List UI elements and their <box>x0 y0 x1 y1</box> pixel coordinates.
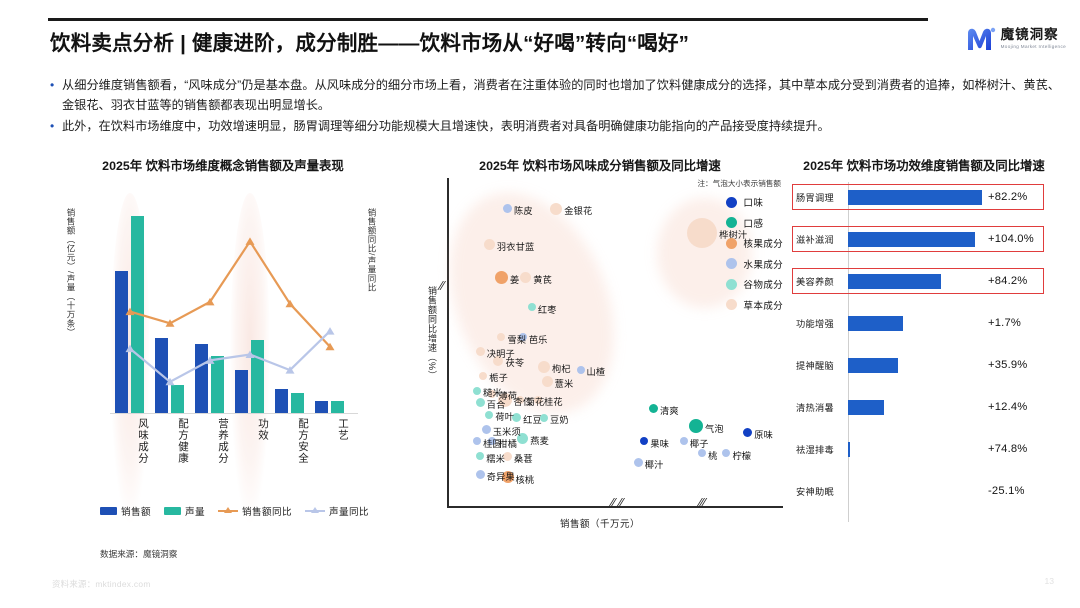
chart2-bubble[interactable] <box>634 458 643 467</box>
chart1-category-label: 功效 <box>230 418 270 441</box>
chart3-bar[interactable] <box>848 190 982 205</box>
chart3-row[interactable]: 功能增强+1.7% <box>790 310 1058 336</box>
chart2-legend-label: 核果成分 <box>743 236 783 250</box>
chart2-bubble-label: 椰汁 <box>645 457 664 471</box>
legend-line-marker-icon <box>218 506 238 516</box>
chart2-bubble[interactable] <box>538 361 550 373</box>
chart2-legend-item[interactable]: 核果成分 <box>726 233 783 254</box>
chart3-value-label: +35.9% <box>988 359 1027 371</box>
chart3-category-label: 安神助眠 <box>796 484 848 498</box>
chart2-bubble[interactable] <box>698 449 706 457</box>
chart3-value-label: -25.1% <box>988 485 1025 497</box>
bullet-item: • 从细分维度销售额看，“风味成分”仍是基本盘。从风味成分的细分市场上看，消费者… <box>48 76 1060 115</box>
chart2-bubble-label: 栀子 <box>489 370 508 384</box>
chart1-category-label: 工艺 <box>310 418 350 441</box>
chart2-legend-label: 水果成分 <box>743 257 783 271</box>
chart-dimension-concept: 2025年 饮料市场维度概念销售额及声量表现 销售额（亿元）/声量（十万条） 销… <box>48 156 398 556</box>
chart1-line-marker <box>326 327 335 335</box>
chart1-legend-label: 声量同比 <box>329 504 369 518</box>
title-underline <box>48 18 928 21</box>
chart2-bubble-label: 桑葚 <box>514 451 533 465</box>
chart1-category-label: 营养成分 <box>190 418 230 464</box>
chart2-bubble-label: 原味 <box>754 427 773 441</box>
chart2-bubble[interactable] <box>550 203 562 215</box>
chart2-bubble-label: 红豆 <box>523 412 542 426</box>
chart1-legend-label: 销售额同比 <box>242 504 292 518</box>
chart2-bubble[interactable] <box>482 425 491 434</box>
chart2-legend-item[interactable]: 口味 <box>726 192 783 213</box>
chart1-y-axis-label: 销售额（亿元）/声量（十万条） <box>54 208 76 438</box>
chart2-bubble-label: 豆奶 <box>550 412 569 426</box>
chart2-bubble-label: 核桃 <box>516 472 535 486</box>
chart2-legend-label: 口味 <box>743 195 763 209</box>
chart2-bubble-label: 菊花 <box>526 394 545 408</box>
bullet-item: • 此外，在饮料市场维度中，功效增速明显，肠胃调理等细分功能规模大且增速快，表明… <box>48 117 1060 137</box>
chart2-bubble-label: 果味 <box>650 436 669 450</box>
chart3-value-label: +12.4% <box>988 401 1027 413</box>
chart2-bubble[interactable] <box>485 411 493 419</box>
chart3-title: 2025年 饮料市场功效维度销售额及同比增速 <box>790 156 1058 174</box>
chart2-bubble-label: 柑橘 <box>498 436 517 450</box>
chart2-bubble-label: 芭乐 <box>529 332 548 346</box>
chart2-legend-label: 草本成分 <box>743 298 783 312</box>
chart2-legend-item[interactable]: 口感 <box>726 213 783 234</box>
chart1-legend-item[interactable]: 销售额同比 <box>218 504 292 518</box>
legend-line-marker-icon <box>305 506 325 516</box>
chart2-bubble-label: 气泡 <box>705 421 724 435</box>
chart1-line-销售额同比 <box>130 241 330 346</box>
legend-dot-icon <box>726 258 737 269</box>
chart2-bubble-label: 椰子 <box>690 436 709 450</box>
chart3-row[interactable]: 提神醒脑+35.9% <box>790 352 1058 378</box>
chart3-bar[interactable] <box>848 316 903 331</box>
chart2-bubble[interactable] <box>689 419 703 433</box>
chart1-title: 2025年 饮料市场维度概念销售额及声量表现 <box>48 156 398 174</box>
chart2-legend: 口味口感核果成分水果成分谷物成分草本成分 <box>726 192 783 315</box>
chart3-bar[interactable] <box>848 232 975 247</box>
chart1-source-note: 数据来源：魔镜洞察 <box>100 548 177 560</box>
chart2-bubble-label: 桃 <box>708 448 717 462</box>
chart3-row[interactable]: 安神助眠-25.1% <box>790 478 1058 504</box>
chart3-category-label: 提神醒脑 <box>796 358 848 372</box>
chart3-bar[interactable] <box>848 442 850 457</box>
chart3-row[interactable]: 滋补滋润+104.0% <box>790 226 1058 252</box>
chart2-bubble[interactable] <box>476 398 485 407</box>
chart2-bubble-label: 荷叶 <box>495 409 514 423</box>
moojing-m-icon <box>966 26 996 52</box>
bullet-marker-icon: • <box>48 76 62 95</box>
chart2-x-axis-label: 销售额（千万元） <box>415 516 785 530</box>
chart3-category-label: 祛湿排毒 <box>796 442 848 456</box>
chart2-bubble-label: 奇异果 <box>487 469 515 483</box>
chart1-line-marker <box>246 237 255 245</box>
chart3-category-label: 功能增强 <box>796 316 848 330</box>
bullet-text: 此外，在饮料市场维度中，功效增速明显，肠胃调理等细分功能规模大且增速快，表明消费… <box>62 117 830 137</box>
chart1-legend-label: 声量 <box>185 504 205 518</box>
chart3-row[interactable]: 美容养颜+84.2% <box>790 268 1058 294</box>
chart1-line-marker <box>126 308 135 316</box>
legend-swatch-icon <box>100 507 117 515</box>
chart1-legend-label: 销售额 <box>121 504 151 518</box>
chart3-value-label: +84.2% <box>988 275 1027 287</box>
chart2-bubble[interactable] <box>687 218 717 248</box>
y-axis-break-icon: ⁄⁄ <box>440 278 444 293</box>
page-title: 饮料卖点分析 | 健康进阶，成分制胜——饮料市场从“好喝”转向“喝好” <box>50 26 689 56</box>
chart2-bubble-label: 陈皮 <box>514 203 533 217</box>
chart2-bubble-label: 枸杞 <box>552 361 571 375</box>
chart2-bubble[interactable] <box>484 239 495 250</box>
chart1-line-marker <box>126 345 135 353</box>
chart2-bubble-label: 金银花 <box>564 203 592 217</box>
legend-dot-icon <box>726 299 737 310</box>
summary-bullets: • 从细分维度销售额看，“风味成分”仍是基本盘。从风味成分的细分市场上看，消费者… <box>48 76 1060 139</box>
chart2-legend-item[interactable]: 草本成分 <box>726 295 783 316</box>
chart2-bubble-label: 燕麦 <box>530 433 549 447</box>
chart2-legend-item[interactable]: 水果成分 <box>726 254 783 275</box>
chart1-line-marker <box>286 300 295 308</box>
footer-watermark: 资料来源：mktindex.com <box>52 578 151 590</box>
chart3-category-label: 美容养颜 <box>796 274 848 288</box>
chart3-value-label: +74.8% <box>988 443 1027 455</box>
chart1-plot-area <box>110 208 350 413</box>
chart2-bubble-label: 茯苓 <box>505 355 524 369</box>
chart1-category-label: 风味成分 <box>110 418 150 464</box>
chart2-bubble-label: 山楂 <box>587 364 606 378</box>
chart1-legend: 销售额声量销售额同比声量同比 <box>100 504 369 518</box>
chart1-legend-item[interactable]: 声量 <box>164 504 205 518</box>
chart-efficacy-dimension: 2025年 饮料市场功效维度销售额及同比增速 肠胃调理+82.2%滋补滋润+10… <box>790 156 1058 556</box>
chart2-bubble[interactable] <box>476 470 485 479</box>
legend-dot-icon <box>726 217 737 228</box>
chart2-bubble[interactable] <box>479 372 487 380</box>
legend-dot-icon <box>726 197 737 208</box>
chart2-bubble-label: 桂花 <box>544 394 563 408</box>
chart3-category-label: 清热消暑 <box>796 400 848 414</box>
chart3-row[interactable]: 肠胃调理+82.2% <box>790 184 1058 210</box>
chart1-line-声量同比 <box>130 331 330 382</box>
chart1-category-label: 配方安全 <box>270 418 310 464</box>
logo-name-cn: 魔镜洞察 <box>1001 28 1066 42</box>
chart1-x-axis <box>110 413 358 414</box>
chart1-legend-item[interactable]: 声量同比 <box>305 504 369 518</box>
chart1-y2-axis-label: 销售额同比/声量同比 <box>362 208 378 378</box>
chart2-bubble-label: 柠檬 <box>732 448 751 462</box>
chart3-value-label: +104.0% <box>988 233 1034 245</box>
chart2-bubble[interactable] <box>476 452 484 460</box>
chart2-legend-label: 口感 <box>743 216 763 230</box>
chart2-bubble[interactable] <box>722 449 730 457</box>
page-number: 13 <box>1044 576 1054 586</box>
chart2-bubble[interactable] <box>473 437 481 445</box>
chart2-legend-item[interactable]: 谷物成分 <box>726 274 783 295</box>
page-header: 饮料卖点分析 | 健康进阶，成分制胜——饮料市场从“好喝”转向“喝好” 魔镜洞察… <box>0 0 1080 68</box>
bullet-text: 从细分维度销售额看，“风味成分”仍是基本盘。从风味成分的细分市场上看，消费者在注… <box>62 76 1060 115</box>
brand-logo: 魔镜洞察 Moojing Market Intelligence <box>966 26 1066 52</box>
chart3-category-label: 滋补滋润 <box>796 232 848 246</box>
chart2-bubble[interactable] <box>542 376 553 387</box>
chart2-bubble[interactable] <box>680 437 688 445</box>
chart3-bar[interactable] <box>848 400 884 415</box>
legend-dot-icon <box>726 238 737 249</box>
chart1-line-layer <box>110 208 350 413</box>
chart3-bar[interactable] <box>848 358 898 373</box>
chart-flavor-ingredient: 2025年 饮料市场风味成分销售额及同比增速 注：气泡大小表示销售额 销售额同比… <box>415 156 785 556</box>
chart2-bubble[interactable] <box>649 404 658 413</box>
chart3-plot-area: 肠胃调理+82.2%滋补滋润+104.0%美容养颜+84.2%功能增强+1.7%… <box>790 182 1058 522</box>
logo-name-en: Moojing Market Intelligence <box>1001 45 1066 50</box>
chart2-bubble-label: 红枣 <box>538 302 557 316</box>
chart2-bubble-label: 薏米 <box>555 376 574 390</box>
chart2-bubble[interactable] <box>577 366 585 374</box>
chart1-category-label: 配方健康 <box>150 418 190 464</box>
chart2-bubble-label: 黄芪 <box>533 272 552 286</box>
chart2-legend-label: 谷物成分 <box>743 277 783 291</box>
legend-swatch-icon <box>164 507 181 515</box>
chart3-row[interactable]: 祛湿排毒+74.8% <box>790 436 1058 462</box>
chart2-bubble-label: 姜 <box>510 272 519 286</box>
chart2-bubble[interactable] <box>473 387 481 395</box>
bullet-marker-icon: • <box>48 117 62 136</box>
chart3-value-label: +1.7% <box>988 317 1021 329</box>
logo-text: 魔镜洞察 Moojing Market Intelligence <box>1001 28 1066 49</box>
chart3-value-label: +82.2% <box>988 191 1027 203</box>
chart3-category-label: 肠胃调理 <box>796 190 848 204</box>
chart2-bubble-label: 雪梨 <box>507 332 526 346</box>
chart2-bubble[interactable] <box>640 437 648 445</box>
chart2-bubble-label: 羽衣甘蓝 <box>497 239 535 253</box>
chart2-bubble-label: 清爽 <box>660 403 679 417</box>
chart3-row[interactable]: 清热消暑+12.4% <box>790 394 1058 420</box>
chart2-title: 2025年 饮料市场风味成分销售额及同比增速 <box>415 156 785 174</box>
chart2-y-axis-label: 销售额同比增速（%） <box>423 286 439 411</box>
legend-dot-icon <box>726 279 737 290</box>
chart2-bubble[interactable] <box>743 428 752 437</box>
chart1-legend-item[interactable]: 销售额 <box>100 504 151 518</box>
chart3-bar[interactable] <box>848 274 941 289</box>
chart2-bubble-label: 糯米 <box>486 451 505 465</box>
chart2-bubble[interactable] <box>495 271 508 284</box>
